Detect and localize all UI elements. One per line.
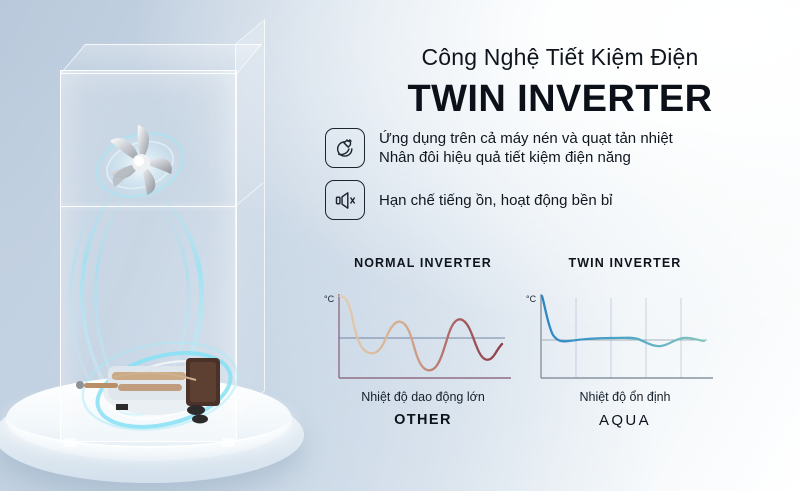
speaker-mute-icon <box>325 180 365 220</box>
feature-item-energy-text: Ứng dụng trên cả máy nén và quạt tản nhi… <box>379 129 673 167</box>
eyebrow-title: Công Nghệ Tiết Kiệm Điện <box>325 44 795 71</box>
chart-title-twin: TWIN INVERTER <box>525 256 725 270</box>
aqua-logo-text: AQUA <box>599 412 651 429</box>
feature-line: Ứng dụng trên cả máy nén và quạt tản nhi… <box>379 129 673 148</box>
chart-caption-twin: Nhiệt độ ổn định <box>525 390 725 404</box>
feature-line: Nhân đôi hiệu quả tiết kiệm điện năng <box>379 148 673 167</box>
chart-caption-normal: Nhiệt độ dao động lớn <box>323 390 523 404</box>
chart-brand-aqua: AQUA <box>525 412 725 429</box>
promo-banner: Công Nghệ Tiết Kiệm Điện TWIN INVERTER Ứ… <box>0 0 800 491</box>
page-title: TWIN INVERTER <box>325 78 795 121</box>
chart-plot-twin: °C <box>525 292 725 384</box>
content-panel: Công Nghệ Tiết Kiệm Điện TWIN INVERTER Ứ… <box>315 0 800 491</box>
y-axis-label-normal: °C <box>324 294 335 304</box>
chart-plot-normal: °C <box>323 292 523 384</box>
feature-item-noise-text: Hạn chế tiếng ồn, hoạt động bền bỉ <box>379 191 613 210</box>
chart-twin-inverter: TWIN INVERTER <box>525 256 725 429</box>
feature-line: Hạn chế tiếng ồn, hoạt động bền bỉ <box>379 191 613 210</box>
product-scene <box>0 0 315 491</box>
chart-normal-inverter: NORMAL INVERTER <box>323 256 523 428</box>
twin-inverter-series <box>542 296 704 346</box>
normal-inverter-series <box>340 296 502 370</box>
y-axis-label-twin: °C <box>526 294 537 304</box>
twin-inverter-linechart: °C <box>525 292 715 384</box>
normal-inverter-linechart: °C <box>323 292 513 384</box>
feature-item-noise: Hạn chế tiếng ồn, hoạt động bền bỉ <box>325 180 795 220</box>
comparison-charts: NORMAL INVERTER <box>315 256 800 456</box>
airflow-swirl <box>0 0 315 491</box>
feature-list: Ứng dụng trên cả máy nén và quạt tản nhi… <box>325 128 795 232</box>
chart-brand-other: OTHER <box>323 412 523 428</box>
feature-item-energy: Ứng dụng trên cả máy nén và quạt tản nhi… <box>325 128 795 168</box>
chart-title-normal: NORMAL INVERTER <box>323 256 523 270</box>
eco-plug-leaf-icon <box>325 128 365 168</box>
